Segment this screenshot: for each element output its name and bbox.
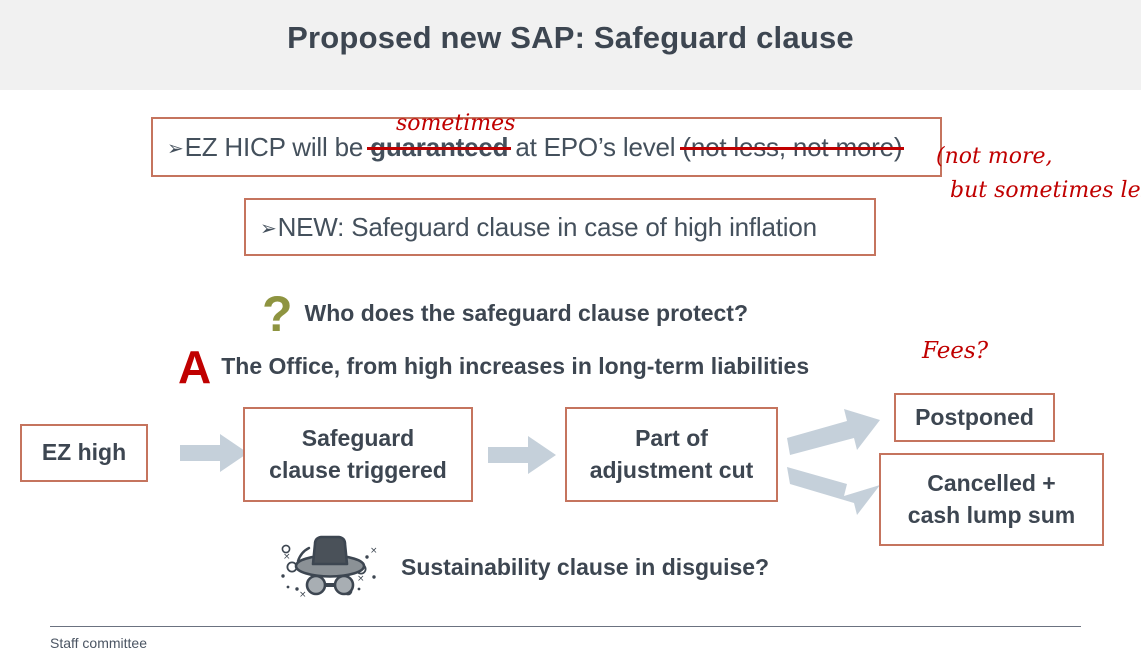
hicp-part2: at EPO’s level <box>508 132 682 162</box>
annotation-sometimes: sometimes <box>396 113 515 135</box>
annotation-not-more-line1: (not more, <box>936 144 1052 169</box>
flow-cancelled-line1: Cancelled + <box>927 470 1055 496</box>
footer-divider <box>50 626 1081 627</box>
statement-box-hicp: ➢EZ HICP will be guaranteed at EPO’s lev… <box>151 117 942 177</box>
disguise-caption: Sustainability clause in disguise? <box>401 554 769 581</box>
new-clause-label: NEW: Safeguard clause in case of high in… <box>278 212 817 242</box>
flow-partcut-line2: adjustment cut <box>590 457 754 483</box>
arrow-cut-to-postponed-icon <box>785 400 883 462</box>
svg-text:×: × <box>357 574 365 584</box>
flow-cancelled-line2: cash lump sum <box>908 502 1075 528</box>
bullet-arrow-icon: ➢ <box>167 138 184 160</box>
annotation-not-more-but-sometimes-less: (not more, but sometimes less) <box>936 140 1141 208</box>
hicp-struck-guaranteed: guaranteed <box>370 132 508 162</box>
flow-trigger-line2: clause triggered <box>269 457 447 483</box>
flow-box-safeguard-triggered: Safeguardclause triggered <box>243 407 473 502</box>
flow-box-ez-high: EZ high <box>20 424 148 482</box>
question-text: Who does the safeguard clause protect? <box>305 300 748 327</box>
answer-text: The Office, from high increases in long-… <box>221 353 809 380</box>
flow-box-ez-high-label: EZ high <box>42 437 126 468</box>
annotation-not-more-line2: but sometimes less) <box>936 174 1141 208</box>
svg-text:×: × <box>370 546 378 556</box>
flow-trigger-line1: Safeguard <box>302 425 414 451</box>
flow-box-part-adjustment-cut: Part ofadjustment cut <box>565 407 778 502</box>
page-title: Proposed new SAP: Safeguard clause <box>0 20 1141 56</box>
annotation-fees: Fees? <box>922 340 988 363</box>
hicp-struck-tail: (not less, not more) <box>682 132 902 162</box>
disguise-hat-glasses-icon: × × × × <box>275 531 385 603</box>
statement-hicp-text: ➢EZ HICP will be guaranteed at EPO’s lev… <box>153 132 902 163</box>
hicp-part1: EZ HICP will be <box>185 132 371 162</box>
footer-text: Staff committee <box>50 635 147 651</box>
flow-box-cancelled-lump-sum: Cancelled +cash lump sum <box>879 453 1104 546</box>
flow-box-safeguard-triggered-label: Safeguardclause triggered <box>269 423 447 485</box>
question-row: ? Who does the safeguard clause protect? <box>262 288 748 338</box>
svg-text:×: × <box>299 590 307 600</box>
flow-box-postponed: Postponed <box>894 393 1055 442</box>
statement-new-clause-text: ➢NEW: Safeguard clause in case of high i… <box>246 212 817 243</box>
answer-row: A The Office, from high increases in lon… <box>178 343 809 389</box>
statement-box-new-clause: ➢NEW: Safeguard clause in case of high i… <box>244 198 876 256</box>
flow-partcut-line1: Part of <box>635 425 708 451</box>
question-mark-icon: ? <box>262 289 293 339</box>
answer-mark-icon: A <box>178 344 211 390</box>
arrow-ez-to-trigger-icon <box>180 434 248 472</box>
flow-box-cancelled-label: Cancelled +cash lump sum <box>908 468 1075 530</box>
arrow-trigger-to-cut-icon <box>488 436 556 474</box>
flow-box-postponed-label: Postponed <box>915 402 1034 433</box>
arrow-cut-to-cancelled-icon <box>785 460 883 522</box>
disguise-row: × × × × Sustainability clause in disguis… <box>275 531 769 603</box>
svg-text:×: × <box>283 552 291 562</box>
bullet-arrow-icon: ➢ <box>260 218 277 240</box>
flow-box-part-adjustment-cut-label: Part ofadjustment cut <box>590 423 754 485</box>
